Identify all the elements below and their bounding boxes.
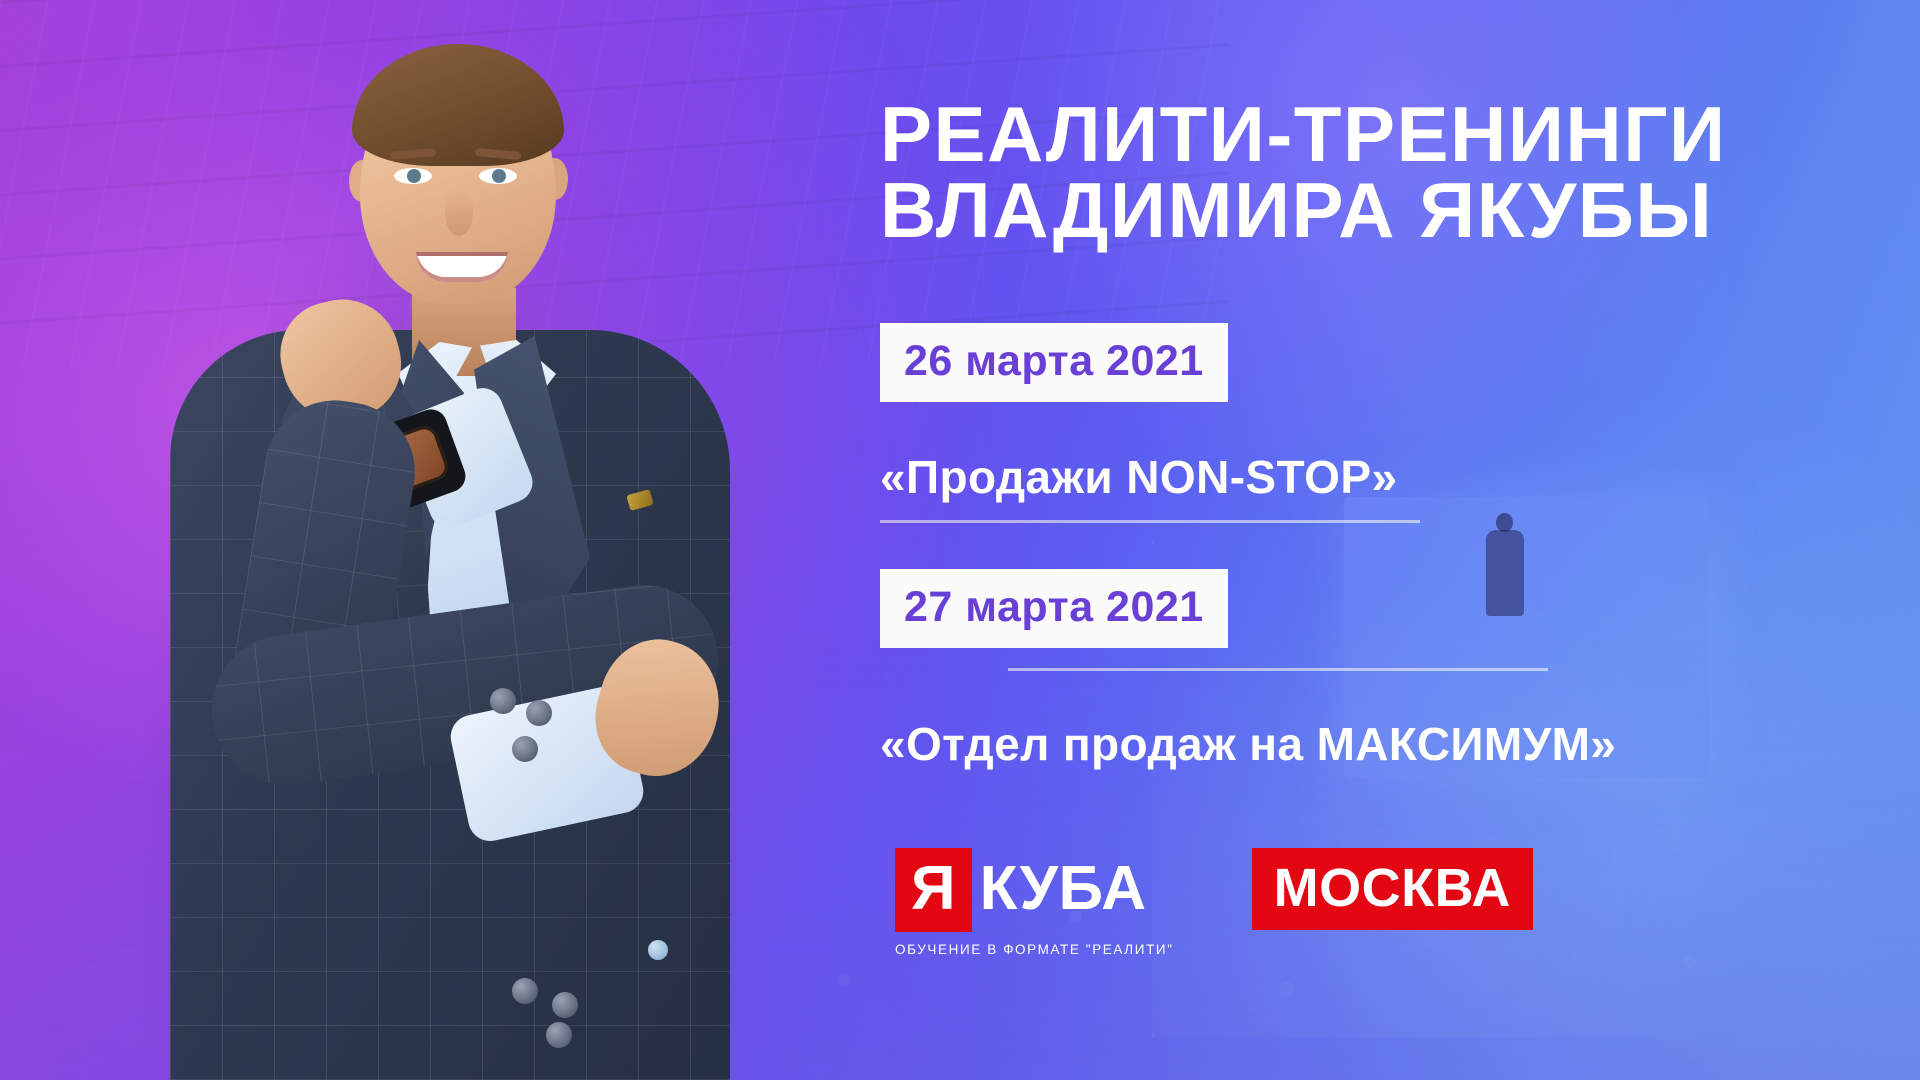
yakuba-mark-letter: Я	[895, 848, 972, 932]
headline-line-2: ВЛАДИМИРА ЯКУБЫ	[880, 172, 1840, 248]
event-2-date-badge: 27 марта 2021	[880, 569, 1228, 648]
photo-sleeve-button	[526, 700, 552, 726]
yakuba-wordmark: Я КУБА	[895, 848, 1174, 932]
event-2-divider	[1008, 668, 1548, 671]
city-badge: МОСКВА	[1252, 848, 1533, 930]
event-2-date-row: 27 марта 2021	[880, 569, 1840, 648]
photo-sleeve-button	[546, 1022, 572, 1048]
photo-hair	[352, 44, 564, 166]
photo-sleeve-button	[512, 736, 538, 762]
photo-eye-right	[479, 168, 517, 184]
photo-sleeve-button	[490, 688, 516, 714]
yakuba-tagline: ОБУЧЕНИЕ В ФОРМАТЕ "РЕАЛИТИ"	[895, 942, 1174, 957]
event-1-date-badge: 26 марта 2021	[880, 323, 1228, 402]
speaker-photo	[60, 0, 830, 1080]
photo-sleeve-button	[512, 978, 538, 1004]
photo-sleeve-button	[552, 992, 578, 1018]
yakuba-logo: Я КУБА ОБУЧЕНИЕ В ФОРМАТЕ "РЕАЛИТИ"	[895, 848, 1174, 957]
headline-line-1: РЕАЛИТИ-ТРЕНИНГИ	[880, 90, 1727, 178]
page-title: РЕАЛИТИ-ТРЕНИНГИ ВЛАДИМИРА ЯКУБЫ	[880, 96, 1840, 249]
event-2-title: «Отдел продаж на МАКСИМУМ»	[880, 721, 1840, 767]
promo-banner: РЕАЛИТИ-ТРЕНИНГИ ВЛАДИМИРА ЯКУБЫ 26 март…	[0, 0, 1920, 1080]
banner-content: РЕАЛИТИ-ТРЕНИНГИ ВЛАДИМИРА ЯКУБЫ 26 март…	[880, 96, 1840, 767]
photo-eye-left	[394, 168, 432, 184]
yakuba-word: КУБА	[972, 848, 1147, 932]
event-1-divider	[880, 520, 1420, 523]
event-1-title: «Продажи NON-STOP»	[880, 454, 1840, 500]
photo-cufflink	[648, 940, 668, 960]
logo-row: Я КУБА ОБУЧЕНИЕ В ФОРМАТЕ "РЕАЛИТИ" МОСК…	[895, 848, 1533, 957]
event-1-date-row: 26 марта 2021	[880, 323, 1840, 402]
photo-nose	[445, 190, 473, 236]
